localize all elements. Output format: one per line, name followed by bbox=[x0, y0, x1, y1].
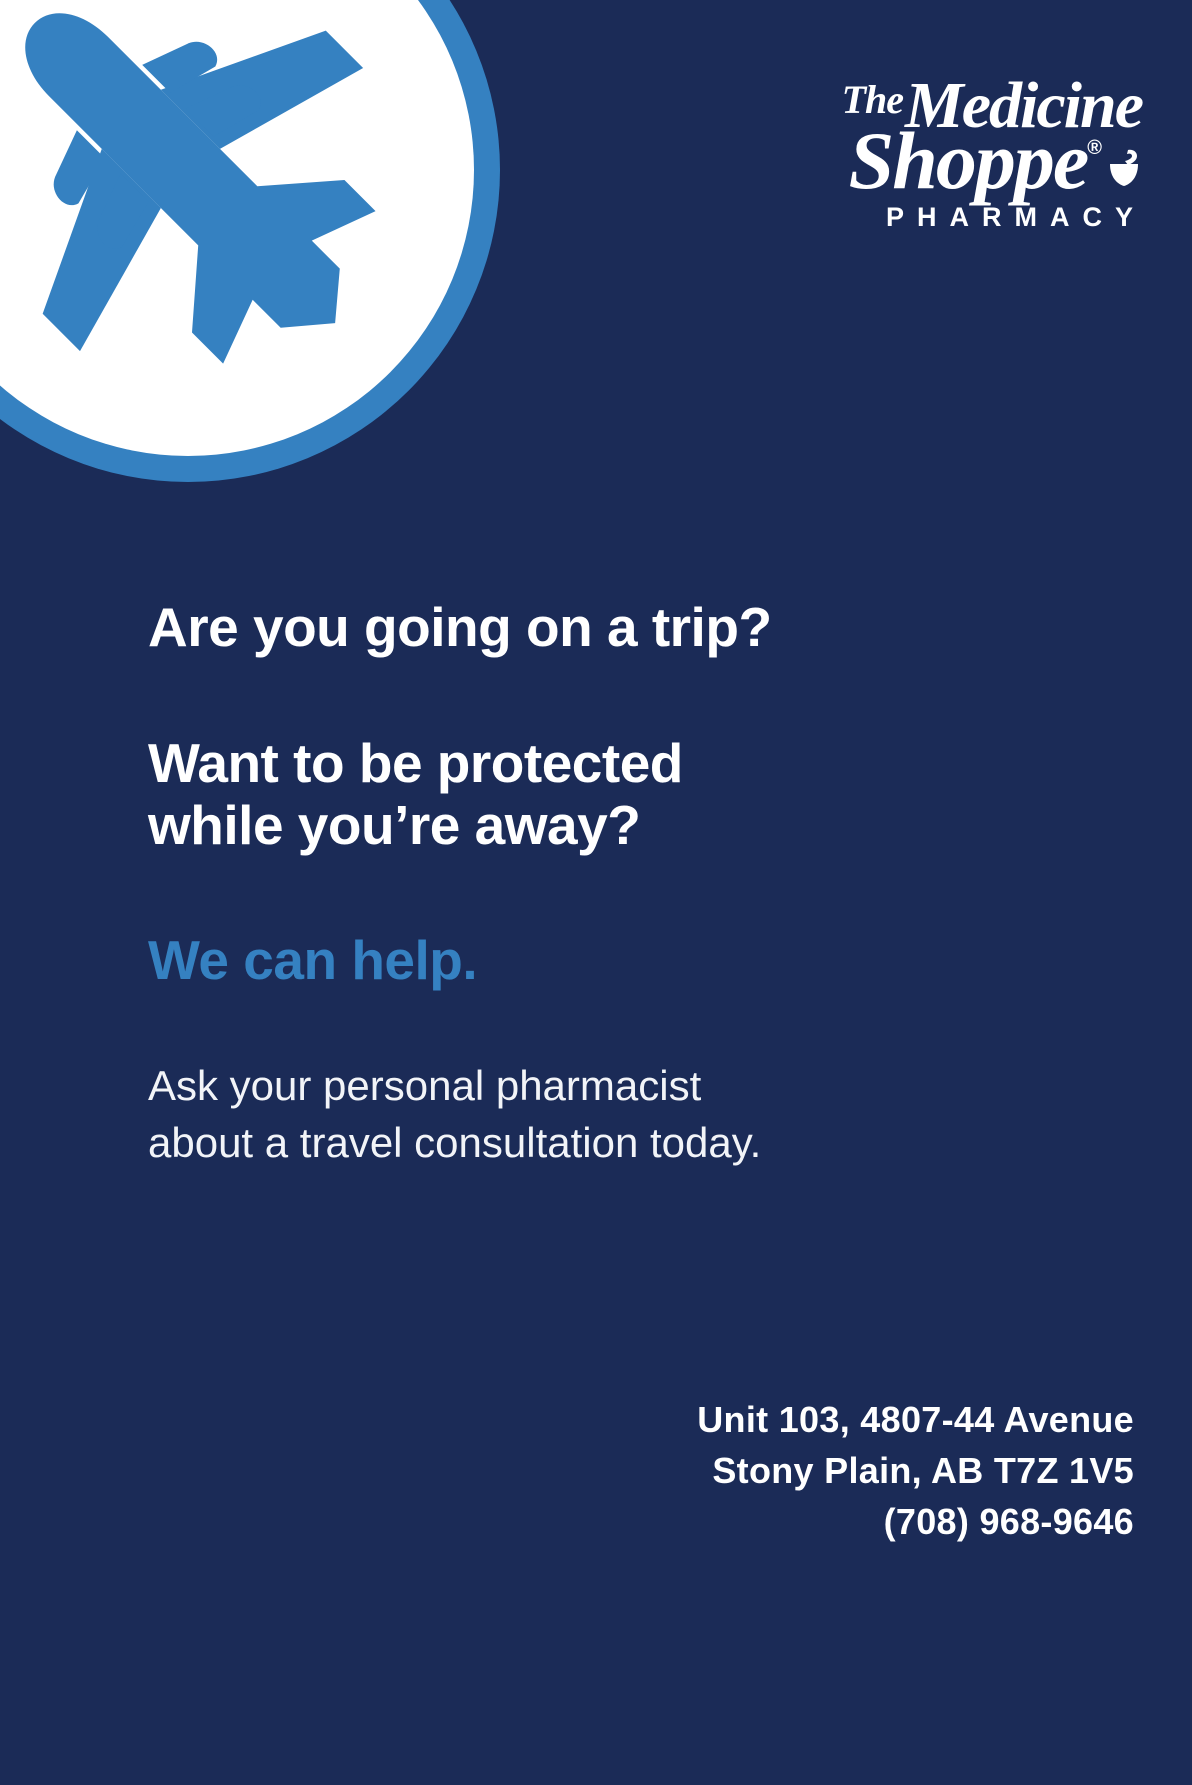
copy-block: Are you going on a trip? Want to be prot… bbox=[148, 596, 1048, 1172]
logo-shoppe: Shoppe bbox=[849, 115, 1088, 206]
poster-canvas: { "theme": { "background": "#1b2b57", "a… bbox=[0, 0, 1192, 1785]
body-copy: Ask your personal pharmacist about a tra… bbox=[148, 1058, 1048, 1171]
airplane-icon bbox=[0, 0, 398, 386]
logo-pharmacy-label: PHARMACY bbox=[726, 202, 1146, 233]
address-line-1: Unit 103, 4807-44 Avenue bbox=[697, 1394, 1134, 1445]
registered-mark: ® bbox=[1087, 137, 1102, 159]
headline-primary: Are you going on a trip? bbox=[148, 596, 1048, 658]
store-address: Unit 103, 4807-44 Avenue Stony Plain, AB… bbox=[697, 1394, 1134, 1547]
airplane-badge bbox=[0, 0, 500, 482]
logo-wordmark-line2: Shoppe® bbox=[726, 127, 1146, 196]
headline-secondary: Want to be protected while you’re away? bbox=[148, 732, 1048, 856]
phone-number[interactable]: (708) 968-9646 bbox=[697, 1496, 1134, 1547]
address-line-2: Stony Plain, AB T7Z 1V5 bbox=[697, 1445, 1134, 1496]
mortar-and-pestle-icon bbox=[1104, 148, 1144, 190]
brand-logo: TheMedicine Shoppe® PHARMACY bbox=[726, 78, 1146, 233]
tagline: We can help. bbox=[148, 928, 1048, 992]
